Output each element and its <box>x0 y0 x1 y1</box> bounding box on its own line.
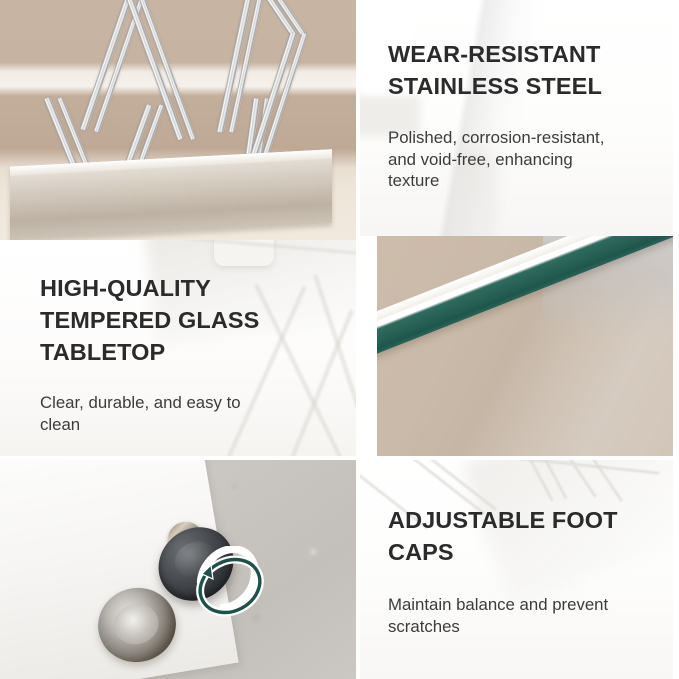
product-feature-infographic: WEAR-RESISTANT STAINLESS STEEL Polished,… <box>0 0 679 679</box>
foot-cap-photo <box>0 460 356 679</box>
feature-description-foot-caps: Maintain balance and prevent scratches <box>388 594 679 637</box>
feature-title-stainless-steel: WEAR-RESISTANT STAINLESS STEEL <box>388 38 679 102</box>
right-edge-margin <box>673 0 679 679</box>
feature-panel-foot-caps: ADJUSTABLE FOOT CAPS Maintain balance an… <box>360 460 679 679</box>
feature-title-foot-caps: ADJUSTABLE FOOT CAPS <box>388 504 679 568</box>
feature-panel-tempered-glass: HIGH-QUALITY TEMPERED GLASS TABLETOP Cle… <box>0 240 356 456</box>
feature-panel-stainless-steel: WEAR-RESISTANT STAINLESS STEEL Polished,… <box>360 0 679 236</box>
feature-title-tempered-glass: HIGH-QUALITY TEMPERED GLASS TABLETOP <box>40 272 356 368</box>
rotation-arrow-icon <box>186 546 268 620</box>
glass-edge-photo <box>377 236 673 456</box>
feature-description-stainless-steel: Polished, corrosion-resistant, and void-… <box>388 127 679 192</box>
feature-description-tempered-glass: Clear, durable, and easy to clean <box>40 392 356 435</box>
steel-base-photo <box>0 0 356 240</box>
